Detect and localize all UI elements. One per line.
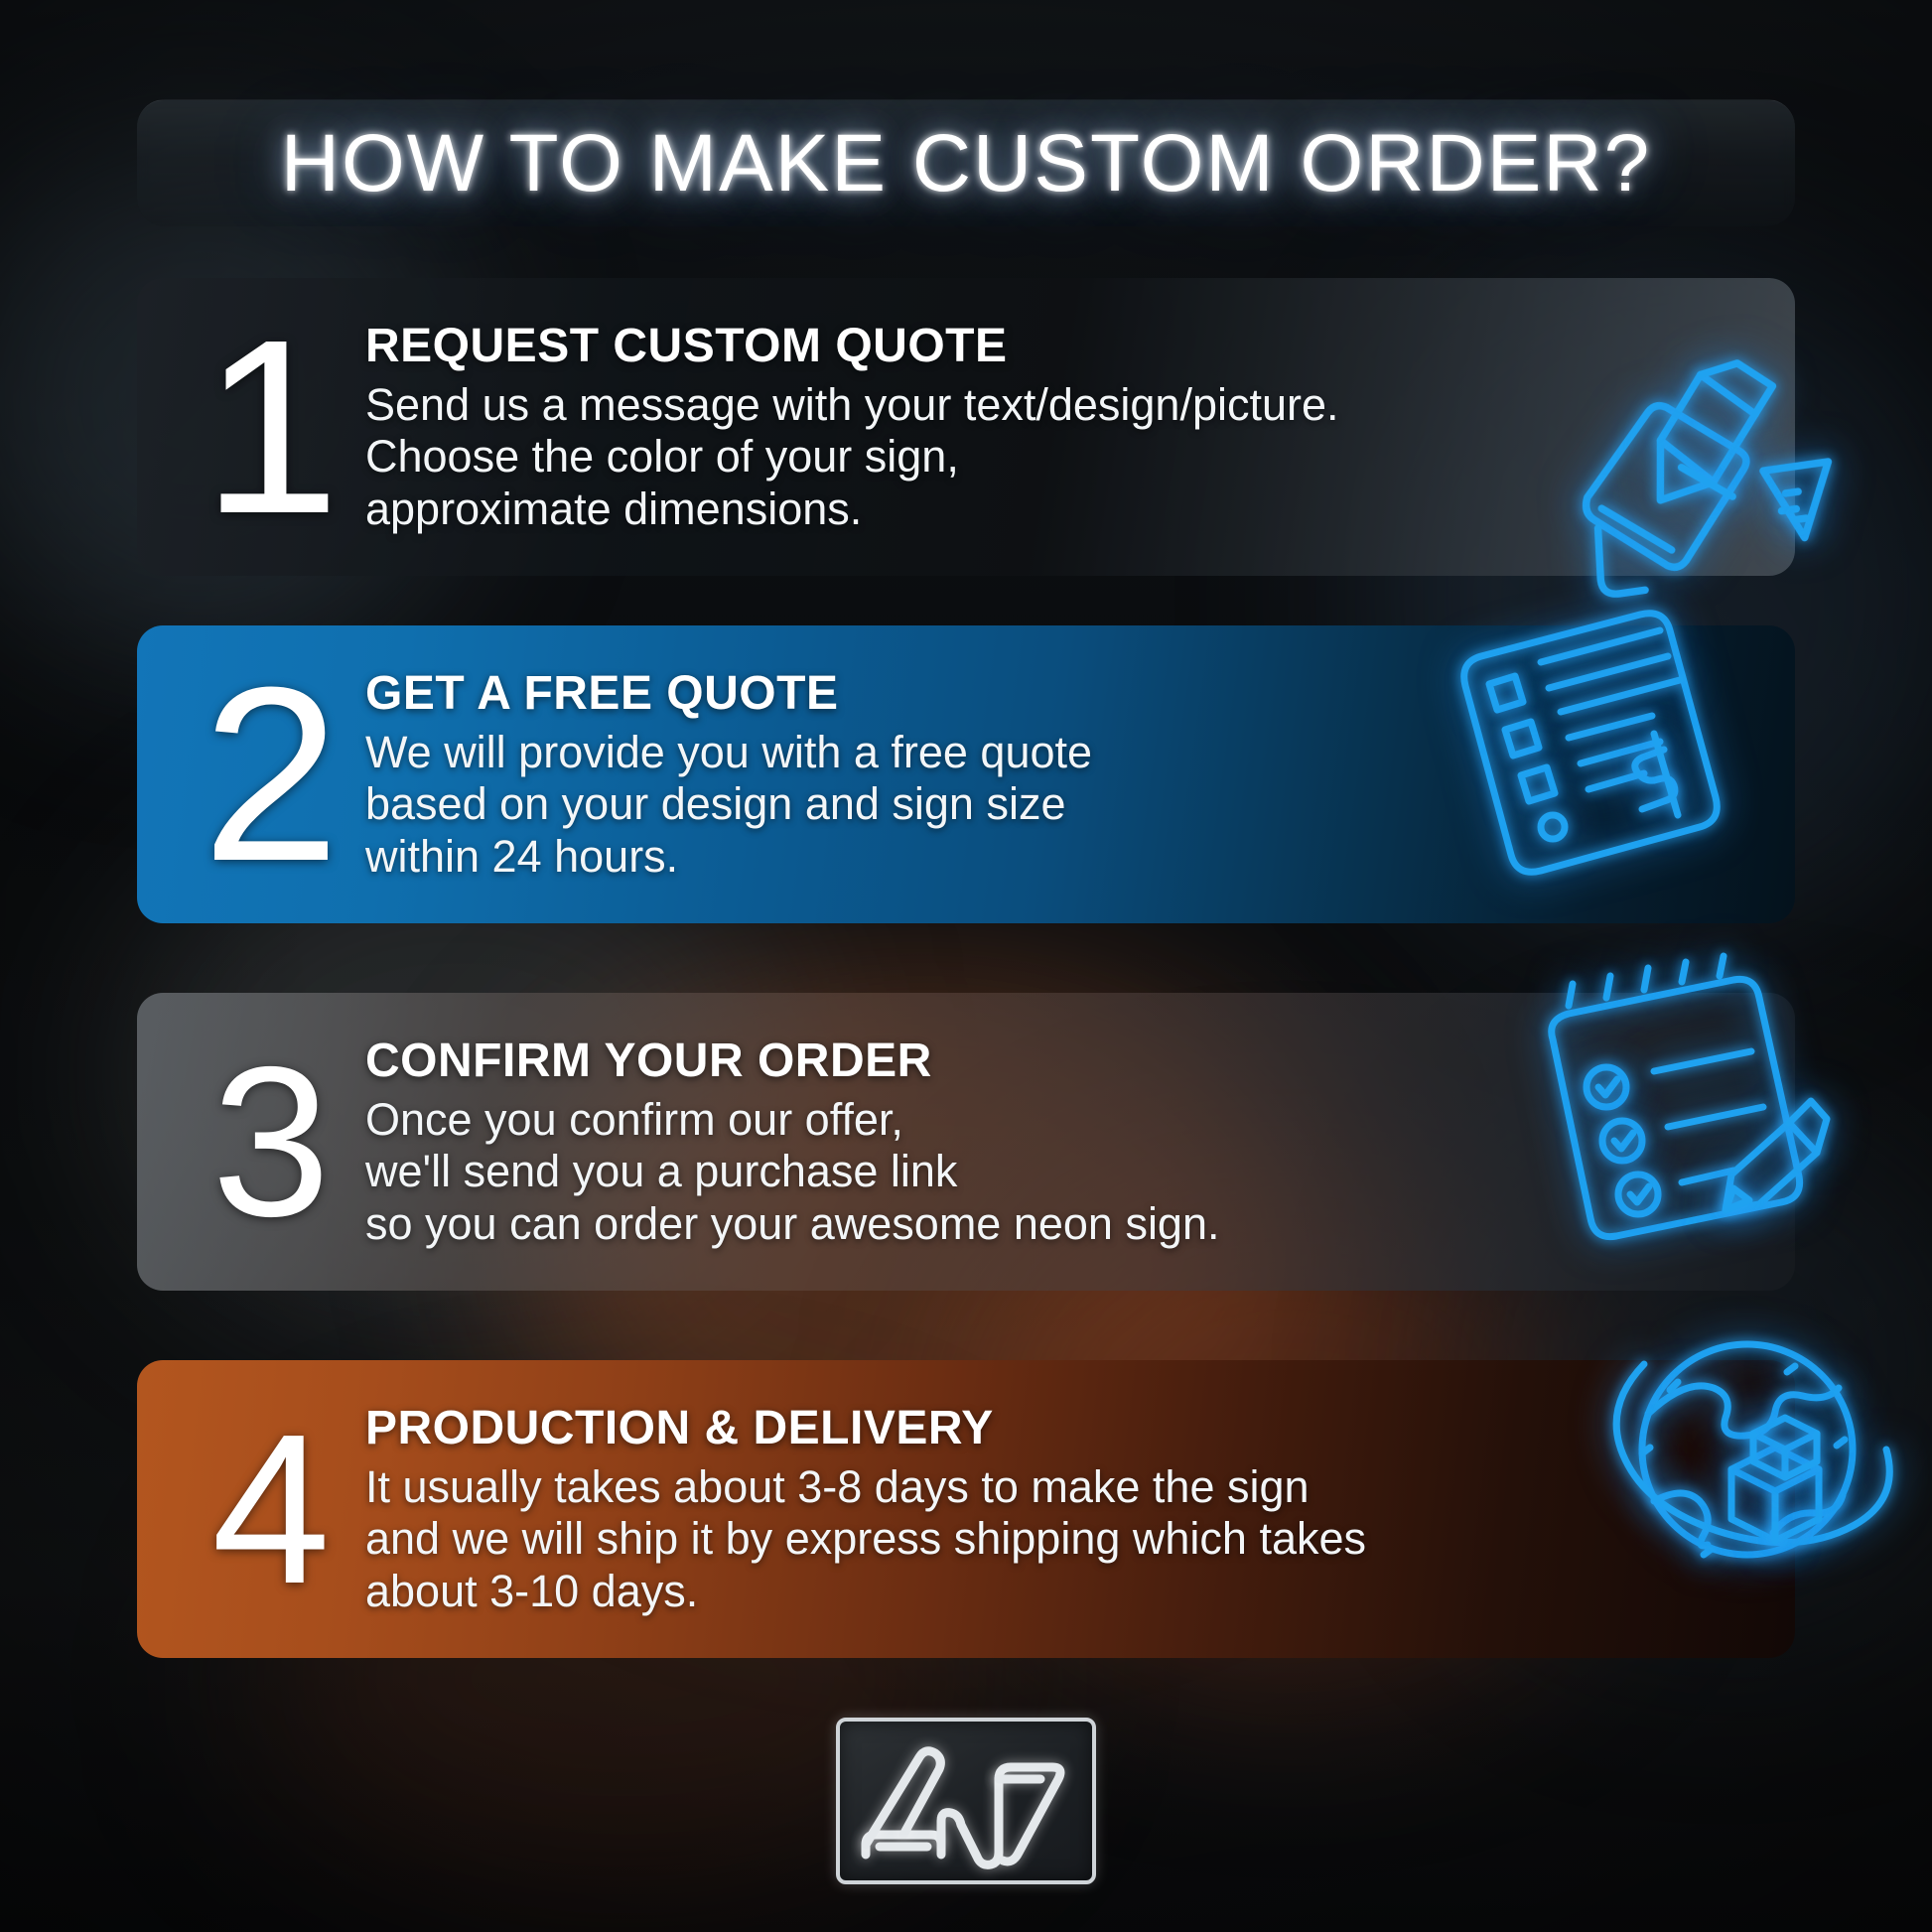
step-title-3: CONFIRM YOUR ORDER [365, 1034, 1765, 1088]
step-title-2: GET A FREE QUOTE [365, 666, 1765, 721]
step-card-2: 2 GET A FREE QUOTE We will provide you w… [137, 625, 1795, 923]
step-number-2: 2 [177, 670, 365, 879]
step-number-4: 4 [177, 1420, 365, 1599]
step-line: and we will ship it by express shipping … [365, 1513, 1765, 1566]
step-line: approximate dimensions. [365, 483, 1765, 536]
step-number-3: 3 [177, 1052, 365, 1232]
step-line: We will provide you with a free quote [365, 727, 1765, 779]
step-line: within 24 hours. [365, 831, 1765, 884]
page-title-bar: HOW TO MAKE CUSTOM ORDER? [137, 99, 1795, 226]
step-line: It usually takes about 3-8 days to make … [365, 1461, 1765, 1514]
step-title-4: PRODUCTION & DELIVERY [365, 1401, 1765, 1455]
step-card-3: 3 CONFIRM YOUR ORDER Once you confirm ou… [137, 993, 1795, 1291]
step-line: Once you confirm our offer, [365, 1094, 1765, 1147]
page-title: HOW TO MAKE CUSTOM ORDER? [281, 117, 1651, 210]
step-line: we'll send you a purchase link [365, 1146, 1765, 1198]
step-line: about 3-10 days. [365, 1566, 1765, 1618]
step-number-1: 1 [177, 323, 365, 531]
step-title-1: REQUEST CUSTOM QUOTE [365, 319, 1765, 373]
logo-monogram-w [836, 1718, 1096, 1884]
step-description-1: Send us a message with your text/design/… [365, 379, 1765, 536]
step-description-4: It usually takes about 3-8 days to make … [365, 1461, 1765, 1618]
step-line: based on your design and sign size [365, 778, 1765, 831]
step-description-2: We will provide you with a free quote ba… [365, 727, 1765, 884]
step-line: Send us a message with your text/design/… [365, 379, 1765, 432]
step-card-1: 1 REQUEST CUSTOM QUOTE Send us a message… [137, 278, 1795, 576]
step-card-4: 4 PRODUCTION & DELIVERY It usually takes… [137, 1360, 1795, 1658]
step-description-3: Once you confirm our offer, we'll send y… [365, 1094, 1765, 1251]
brand-logo [836, 1718, 1096, 1884]
step-line: so you can order your awesome neon sign. [365, 1198, 1765, 1251]
step-line: Choose the color of your sign, [365, 431, 1765, 483]
